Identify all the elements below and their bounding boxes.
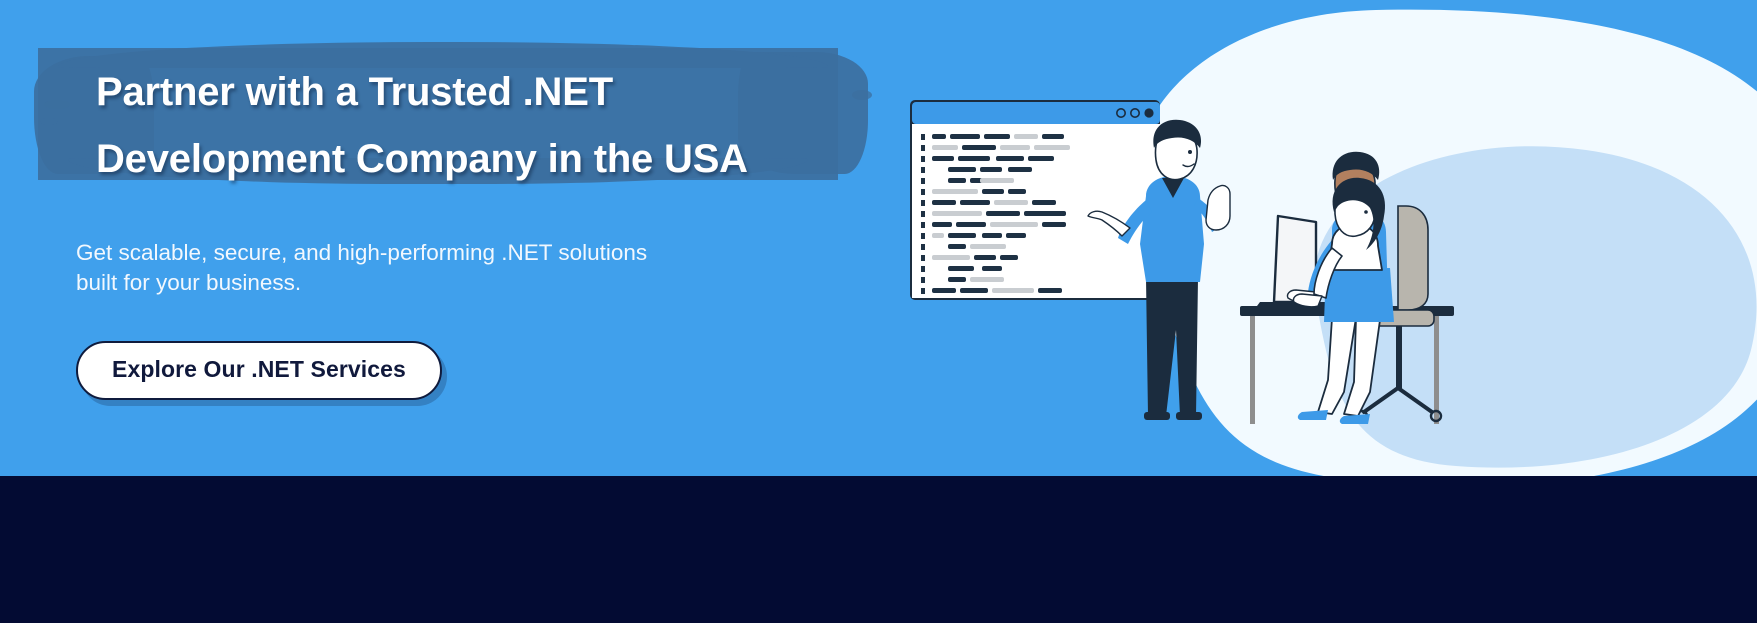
subtitle-line-2: built for your business. [76, 268, 776, 298]
hero-subtitle: Get scalable, secure, and high-performin… [76, 238, 776, 298]
headline-line-2: Development Company in the USA [38, 115, 878, 182]
hero-banner-page: Partner with a Trusted .NET Development … [0, 0, 1757, 623]
team-coding-illustration [846, 0, 1757, 476]
explore-services-button[interactable]: Explore Our .NET Services [76, 341, 442, 400]
hero-banner: Partner with a Trusted .NET Development … [0, 0, 1757, 476]
page-title: Partner with a Trusted .NET Development … [38, 48, 878, 182]
subtitle-line-1: Get scalable, secure, and high-performin… [76, 238, 776, 268]
headline-line-1: Partner with a Trusted .NET [38, 48, 878, 115]
footer-strip [0, 476, 1757, 623]
hero-content: Partner with a Trusted .NET Development … [0, 0, 900, 476]
window-dot-3 [1144, 108, 1153, 117]
headline-block: Partner with a Trusted .NET Development … [38, 48, 878, 196]
code-window [910, 100, 1160, 300]
